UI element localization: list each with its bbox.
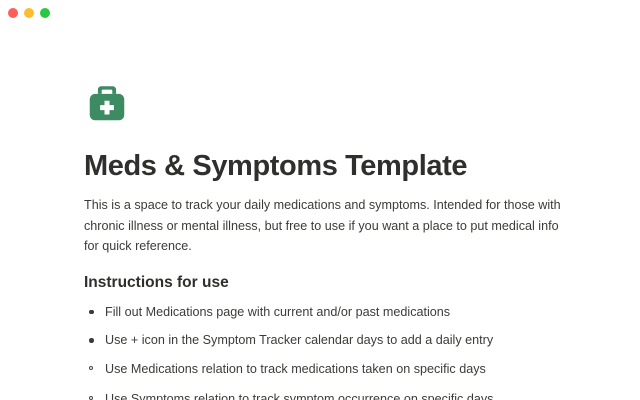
list-item[interactable]: Use Medications relation to track medica… [84, 360, 574, 379]
app-window: Meds & Symptoms Template This is a space… [0, 0, 640, 400]
page-content: Meds & Symptoms Template This is a space… [84, 30, 574, 400]
list-item-label: Use Medications relation to track medica… [105, 362, 486, 376]
list-item-label: Fill out Medications page with current a… [105, 305, 450, 319]
nested-list-container: Use Medications relation to track medica… [84, 360, 574, 400]
maximize-button-icon[interactable] [40, 8, 50, 18]
list-item[interactable]: Use Symptoms relation to track symptom o… [84, 390, 574, 400]
bullet-marker-icon [89, 338, 94, 343]
instructions-list: Fill out Medications page with current a… [84, 303, 574, 400]
traffic-light-controls [8, 8, 50, 18]
page-description: This is a space to track your daily medi… [84, 195, 562, 256]
section-heading-instructions: Instructions for use [84, 273, 574, 293]
list-item-label: Use Symptoms relation to track symptom o… [105, 392, 493, 400]
close-button-icon[interactable] [8, 8, 18, 18]
page-title: Meds & Symptoms Template [84, 149, 574, 183]
sub-bullet-marker-icon [89, 366, 93, 370]
list-item[interactable]: Fill out Medications page with current a… [84, 303, 574, 322]
bullet-marker-icon [89, 310, 94, 315]
sub-bullet-marker-icon [89, 396, 93, 400]
list-item-label: Use + icon in the Symptom Tracker calend… [105, 333, 493, 347]
medical-bag-icon[interactable] [84, 80, 130, 126]
window-titlebar [0, 0, 640, 30]
sub-instructions-list: Use Medications relation to track medica… [84, 360, 574, 400]
page-scroll-area[interactable]: Meds & Symptoms Template This is a space… [0, 30, 640, 400]
minimize-button-icon[interactable] [24, 8, 34, 18]
list-item[interactable]: Use + icon in the Symptom Tracker calend… [84, 331, 574, 350]
